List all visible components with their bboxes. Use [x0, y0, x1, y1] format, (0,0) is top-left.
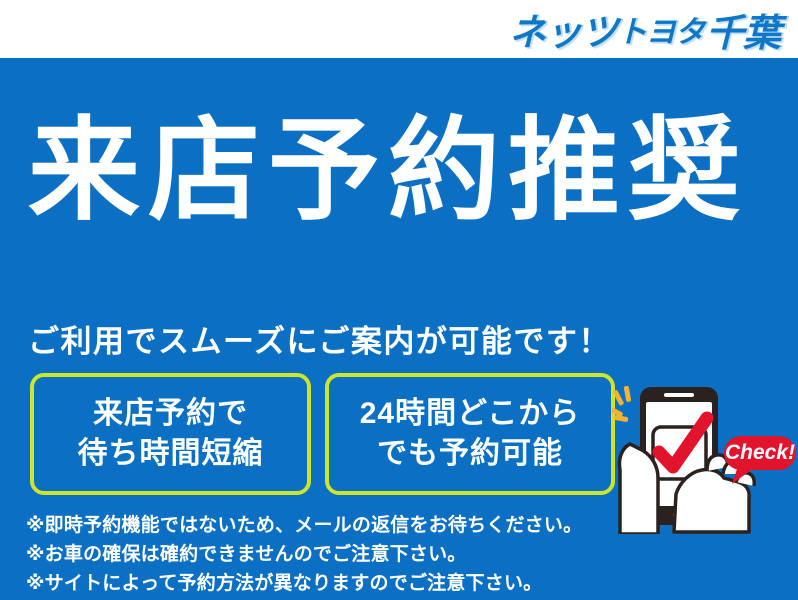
dealership-logo: ネッツトヨタ千葉 — [509, 3, 780, 55]
holding-hand-icon — [619, 444, 658, 534]
disclaimer-notes: ※即時予約機能ではないため、メールの返信をお待ちください。 ※お車の確保は確約で… — [26, 512, 582, 599]
feature-box-2-line-1: 24時間どこから — [360, 394, 580, 434]
disclaimer-line-2: ※お車の確保は確約できませんのでご注意下さい。 — [26, 541, 582, 570]
smartphone-check-illustration: Check! — [612, 382, 798, 534]
logo-text-toyota: トヨタ — [617, 7, 704, 51]
subtitle-text: ご利用でスムーズにご案内が可能です！ — [28, 316, 611, 361]
feature-box-2-line-2: でも予約可能 — [377, 434, 563, 474]
feature-box-1-line-1: 来店予約で — [93, 394, 248, 434]
disclaimer-line-3: ※サイトによって予約方法が異なりますのでご注意下さい。 — [26, 570, 582, 599]
feature-box-24h-booking: 24時間どこから でも予約可能 — [325, 373, 615, 495]
motion-lines-icon — [612, 386, 631, 423]
logo-text-netz: ネッツ — [509, 2, 617, 56]
check-badge-label: Check! — [725, 441, 795, 464]
main-headline: 来店予約推奨 — [28, 112, 773, 230]
logo-text-chiba: 千葉 — [706, 2, 780, 57]
feature-box-1-line-2: 待ち時間短縮 — [78, 434, 264, 474]
feature-box-wait-time: 来店予約で 待ち時間短縮 — [30, 373, 311, 495]
advertisement-banner: ネッツトヨタ千葉 来店予約推奨 ご利用でスムーズにご案内が可能です！ 来店予約で… — [0, 0, 798, 600]
disclaimer-line-1: ※即時予約機能ではないため、メールの返信をお待ちください。 — [26, 512, 582, 541]
